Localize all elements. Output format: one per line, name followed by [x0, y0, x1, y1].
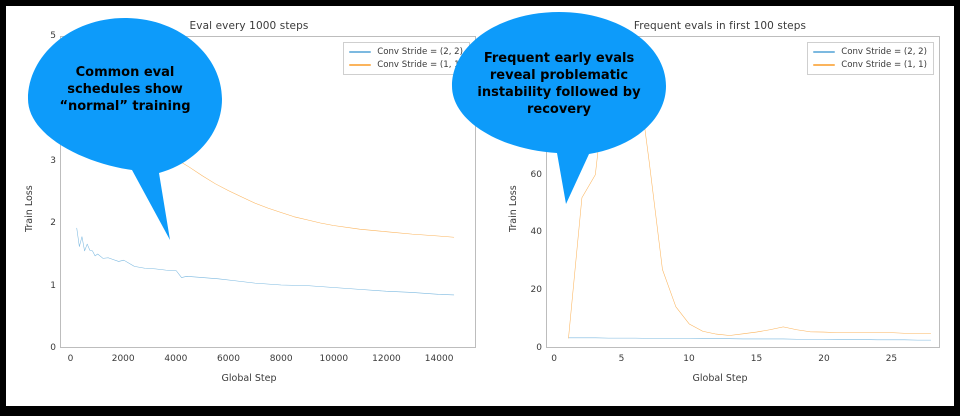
x-tick-label: 15	[751, 354, 762, 364]
y-tick-label: 0	[50, 343, 56, 353]
x-tick-label: 4000	[164, 354, 187, 364]
x-tick-label: 10	[683, 354, 694, 364]
x-tick-label: 12000	[372, 354, 401, 364]
x-tick-label: 20	[818, 354, 829, 364]
figure-canvas: Eval every 1000 steps Train Loss 012345 …	[6, 6, 954, 406]
x-tick-label: 2000	[112, 354, 135, 364]
x-tick-label: 0	[551, 354, 557, 364]
y-tick-label: 20	[531, 285, 542, 295]
x-tick-label: 6000	[217, 354, 240, 364]
legend-item: Conv Stride = (2, 2)	[813, 47, 927, 57]
callout-text-right: Frequent early evals reveal problematic …	[464, 50, 654, 119]
callout-text-left: Common eval schedules show “normal” trai…	[44, 64, 206, 115]
x-tick-label: 10000	[319, 354, 348, 364]
callout-shape-left	[20, 12, 230, 242]
x-axis-label: Global Step	[490, 373, 950, 384]
y-tick-label: 0	[536, 343, 542, 353]
legend: Conv Stride = (2, 2) Conv Stride = (1, 1…	[807, 42, 934, 75]
x-tick-label: 25	[886, 354, 897, 364]
x-tick-label: 0	[68, 354, 74, 364]
legend-swatch-stride-2-2	[349, 51, 371, 54]
x-axis-ticks: 02000400060008000100001200014000	[60, 354, 476, 366]
legend-label: Conv Stride = (1, 1)	[841, 60, 927, 70]
x-axis-label: Global Step	[10, 373, 488, 384]
legend-swatch-stride-2-2	[813, 51, 835, 54]
x-axis-ticks: 0510152025	[546, 354, 940, 366]
legend-swatch-stride-1-1	[813, 64, 835, 67]
callout-bubble-left: Common eval schedules show “normal” trai…	[20, 12, 230, 242]
series-line	[568, 338, 930, 340]
legend-item: Conv Stride = (1, 1)	[813, 60, 927, 70]
x-tick-label: 8000	[270, 354, 293, 364]
legend-swatch-stride-1-1	[349, 64, 371, 67]
y-tick-label: 40	[531, 227, 542, 237]
x-tick-label: 5	[619, 354, 625, 364]
y-tick-label: 1	[50, 281, 56, 291]
x-tick-label: 14000	[425, 354, 454, 364]
legend-label: Conv Stride = (2, 2)	[841, 47, 927, 57]
callout-bubble-right: Frequent early evals reveal problematic …	[444, 8, 674, 208]
